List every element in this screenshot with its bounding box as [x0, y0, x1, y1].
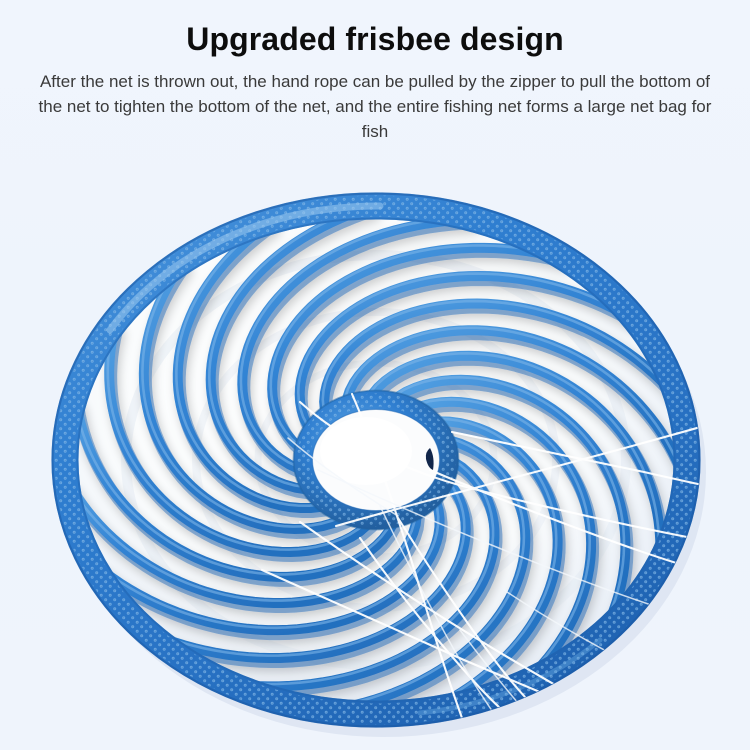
header-text-block: Upgraded frisbee design After the net is…	[0, 0, 750, 144]
center-hub	[294, 391, 459, 530]
product-image-stage	[0, 170, 750, 750]
page-description: After the net is thrown out, the hand ro…	[30, 57, 720, 144]
spiral-frisbee-illustration	[0, 170, 750, 750]
product-detail-page: Upgraded frisbee design After the net is…	[0, 0, 750, 750]
page-title: Upgraded frisbee design	[0, 0, 750, 57]
